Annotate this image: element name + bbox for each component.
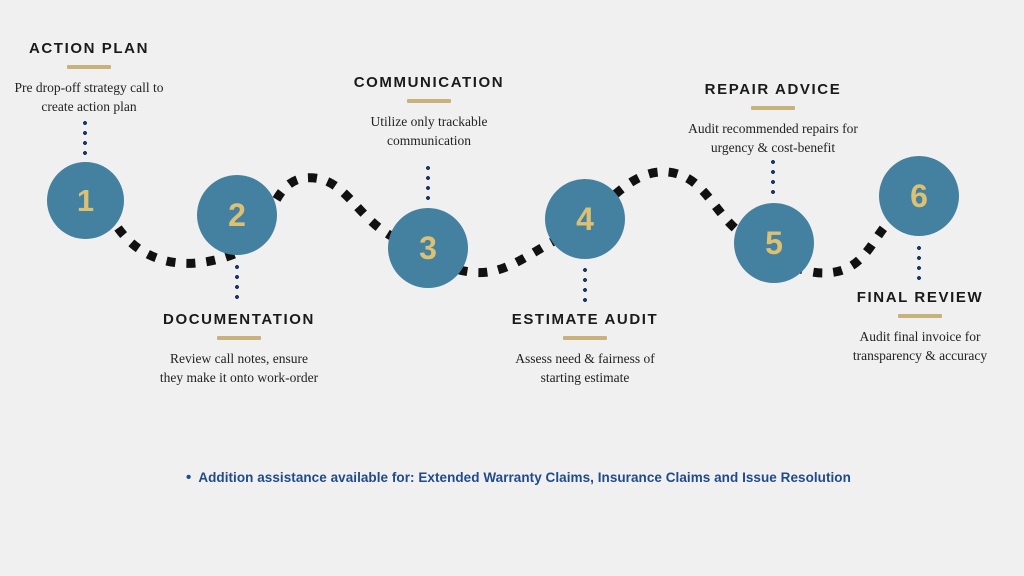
connector-dots-3 bbox=[426, 163, 430, 205]
step-title: ESTIMATE AUDIT bbox=[485, 312, 685, 329]
step-block-2: DOCUMENTATION Review call notes, ensure … bbox=[139, 312, 339, 387]
step-description: Pre drop-off strategy call to create act… bbox=[0, 78, 189, 116]
gold-divider bbox=[67, 65, 111, 69]
step-number: 6 bbox=[910, 180, 928, 212]
infographic-canvas: ACTION PLAN Pre drop-off strategy call t… bbox=[0, 0, 1024, 576]
step-description: Review call notes, ensure they make it o… bbox=[139, 349, 339, 387]
step-number: 5 bbox=[765, 227, 783, 259]
step-number: 1 bbox=[77, 185, 94, 216]
step-number: 4 bbox=[576, 203, 594, 235]
step-block-5: REPAIR ADVICE Audit recommended repairs … bbox=[673, 82, 873, 157]
footer-note-text: Addition assistance available for: Exten… bbox=[198, 470, 851, 485]
step-title: REPAIR ADVICE bbox=[673, 82, 873, 99]
step-circle-3[interactable]: 3 bbox=[388, 208, 468, 288]
step-block-6: FINAL REVIEW Audit final invoice for tra… bbox=[820, 290, 1020, 365]
step-circle-2[interactable]: 2 bbox=[197, 175, 277, 255]
connector-dots-5 bbox=[771, 157, 775, 199]
step-block-4: ESTIMATE AUDIT Assess need & fairness of… bbox=[485, 312, 685, 387]
step-circle-4[interactable]: 4 bbox=[545, 179, 625, 259]
step-description: Utilize only trackable communication bbox=[329, 112, 529, 150]
gold-divider bbox=[407, 99, 451, 103]
step-circle-1[interactable]: 1 bbox=[47, 162, 124, 239]
footer-note: • Addition assistance available for: Ext… bbox=[186, 470, 851, 485]
step-number: 3 bbox=[419, 232, 437, 264]
step-title: ACTION PLAN bbox=[0, 41, 189, 58]
step-circle-6[interactable]: 6 bbox=[879, 156, 959, 236]
gold-divider bbox=[563, 336, 607, 340]
connector-dots-2 bbox=[235, 262, 239, 304]
step-description: Assess need & fairness of starting estim… bbox=[485, 349, 685, 387]
step-title: DOCUMENTATION bbox=[139, 312, 339, 329]
step-circle-5[interactable]: 5 bbox=[734, 203, 814, 283]
gold-divider bbox=[217, 336, 261, 340]
connector-dots-4 bbox=[583, 265, 587, 307]
bullet-icon: • bbox=[186, 470, 191, 485]
step-block-3: COMMUNICATION Utilize only trackable com… bbox=[329, 75, 529, 150]
step-title: COMMUNICATION bbox=[329, 75, 529, 92]
step-number: 2 bbox=[228, 199, 246, 231]
step-description: Audit recommended repairs for urgency & … bbox=[673, 119, 873, 157]
gold-divider bbox=[898, 314, 942, 318]
step-title: FINAL REVIEW bbox=[820, 290, 1020, 307]
step-description: Audit final invoice for transparency & a… bbox=[820, 327, 1020, 365]
connector-dots-6 bbox=[917, 243, 921, 285]
step-block-1: ACTION PLAN Pre drop-off strategy call t… bbox=[0, 41, 189, 116]
connector-dots-1 bbox=[83, 118, 87, 160]
gold-divider bbox=[751, 106, 795, 110]
